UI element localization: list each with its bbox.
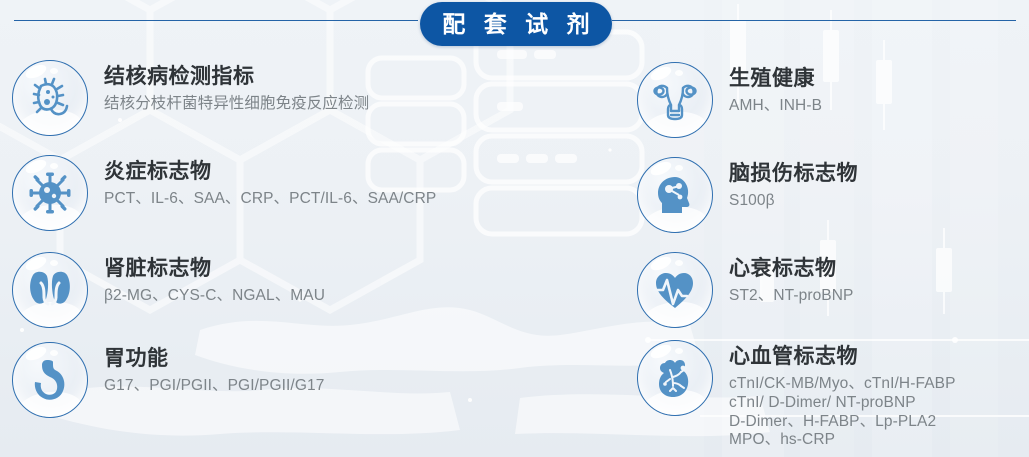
- list-item[interactable]: 结核病检测指标 结核分枝杆菌特异性细胞免疫反应检测: [12, 60, 369, 136]
- icon-wrap: [12, 155, 88, 231]
- stomach-icon: [29, 359, 71, 401]
- icon-wrap: [637, 340, 713, 416]
- item-subtitle: G17、PGI/PGII、PGI/PGII/G17: [104, 377, 324, 396]
- icon-wrap: [12, 60, 88, 136]
- icon-wrap: [637, 157, 713, 233]
- subtitle-line: cTnI/ D-Dimer/ NT-proBNP: [729, 394, 956, 413]
- list-item[interactable]: 脑损伤标志物 S100β: [637, 157, 858, 233]
- item-subtitle: ST2、NT-proBNP: [729, 287, 853, 306]
- subtitle-line: ST2、NT-proBNP: [729, 287, 853, 306]
- list-item[interactable]: 生殖健康 AMH、INH-B: [637, 62, 822, 138]
- item-title: 心衰标志物: [729, 257, 853, 282]
- subtitle-line: cTnI/CK-MB/Myo、cTnI/H-FABP: [729, 375, 956, 394]
- gloss-highlight-small: [675, 260, 683, 266]
- kidney-icon: [28, 269, 72, 311]
- subtitle-line: MPO、hs-CRP: [729, 431, 956, 450]
- gloss-highlight-small: [50, 350, 58, 356]
- list-item[interactable]: 炎症标志物 PCT、IL-6、SAA、CRP、PCT/IL-6、SAA/CRP: [12, 155, 436, 231]
- item-subtitle: cTnI/CK-MB/Myo、cTnI/H-FABP cTnI/ D-Dimer…: [729, 375, 956, 451]
- icon-wrap: [637, 62, 713, 138]
- list-item[interactable]: 肾脏标志物 β2-MG、CYS-C、NGAL、MAU: [12, 252, 325, 328]
- icon-wrap: [12, 342, 88, 418]
- item-title: 肾脏标志物: [104, 257, 325, 282]
- item-title: 胃功能: [104, 347, 324, 372]
- item-text: 脑损伤标志物 S100β: [729, 157, 858, 211]
- subtitle-line: G17、PGI/PGII、PGI/PGII/G17: [104, 377, 324, 396]
- item-title: 生殖健康: [729, 67, 822, 92]
- item-text: 肾脏标志物 β2-MG、CYS-C、NGAL、MAU: [104, 252, 325, 306]
- subtitle-line: AMH、INH-B: [729, 97, 822, 116]
- gloss-highlight-small: [675, 348, 683, 354]
- gloss-highlight-small: [675, 165, 683, 171]
- item-subtitle: 结核分枝杆菌特异性细胞免疫反应检测: [104, 95, 369, 114]
- brain-injury-icon: [653, 173, 697, 217]
- list-item[interactable]: 心血管标志物 cTnI/CK-MB/Myo、cTnI/H-FABP cTnI/ …: [637, 340, 956, 450]
- gloss-highlight-small: [50, 68, 58, 74]
- item-title: 结核病检测指标: [104, 65, 369, 90]
- item-subtitle: PCT、IL-6、SAA、CRP、PCT/IL-6、SAA/CRP: [104, 190, 436, 209]
- list-item[interactable]: 胃功能 G17、PGI/PGII、PGI/PGII/G17: [12, 342, 324, 418]
- item-text: 心血管标志物 cTnI/CK-MB/Myo、cTnI/H-FABP cTnI/ …: [729, 340, 956, 450]
- item-text: 结核病检测指标 结核分枝杆菌特异性细胞免疫反应检测: [104, 60, 369, 114]
- item-subtitle: β2-MG、CYS-C、NGAL、MAU: [104, 287, 325, 306]
- item-title: 炎症标志物: [104, 160, 436, 185]
- uterus-icon: [652, 79, 698, 121]
- page-title: 配 套 试 剂: [436, 13, 595, 36]
- bacteria-icon: [28, 76, 72, 120]
- gloss-highlight-small: [50, 163, 58, 169]
- section-title-banner: 配 套 试 剂: [420, 2, 612, 46]
- gloss-highlight-small: [50, 260, 58, 266]
- subtitle-line: S100β: [729, 192, 858, 211]
- header-rule-right: [612, 20, 1016, 21]
- cardiac-anatomy-icon: [653, 357, 697, 399]
- item-text: 炎症标志物 PCT、IL-6、SAA、CRP、PCT/IL-6、SAA/CRP: [104, 155, 436, 209]
- item-subtitle: S100β: [729, 192, 858, 211]
- list-item[interactable]: 心衰标志物 ST2、NT-proBNP: [637, 252, 853, 328]
- poster-root: 配 套 试 剂: [0, 0, 1029, 457]
- item-subtitle: AMH、INH-B: [729, 97, 822, 116]
- subtitle-line: β2-MG、CYS-C、NGAL、MAU: [104, 287, 325, 306]
- subtitle-line: PCT、IL-6、SAA、CRP、PCT/IL-6、SAA/CRP: [104, 190, 436, 209]
- heart-pulse-icon: [653, 270, 697, 310]
- item-title: 心血管标志物: [729, 345, 956, 370]
- icon-wrap: [637, 252, 713, 328]
- item-text: 生殖健康 AMH、INH-B: [729, 62, 822, 116]
- item-text: 心衰标志物 ST2、NT-proBNP: [729, 252, 853, 306]
- item-title: 脑损伤标志物: [729, 162, 858, 187]
- gloss-highlight-small: [675, 70, 683, 76]
- subtitle-line: 结核分枝杆菌特异性细胞免疫反应检测: [104, 95, 369, 114]
- item-text: 胃功能 G17、PGI/PGII、PGI/PGII/G17: [104, 342, 324, 396]
- subtitle-line: D-Dimer、H-FABP、Lp-PLA2: [729, 413, 956, 432]
- icon-wrap: [12, 252, 88, 328]
- header-rule-left: [14, 20, 418, 21]
- virus-icon: [28, 171, 72, 215]
